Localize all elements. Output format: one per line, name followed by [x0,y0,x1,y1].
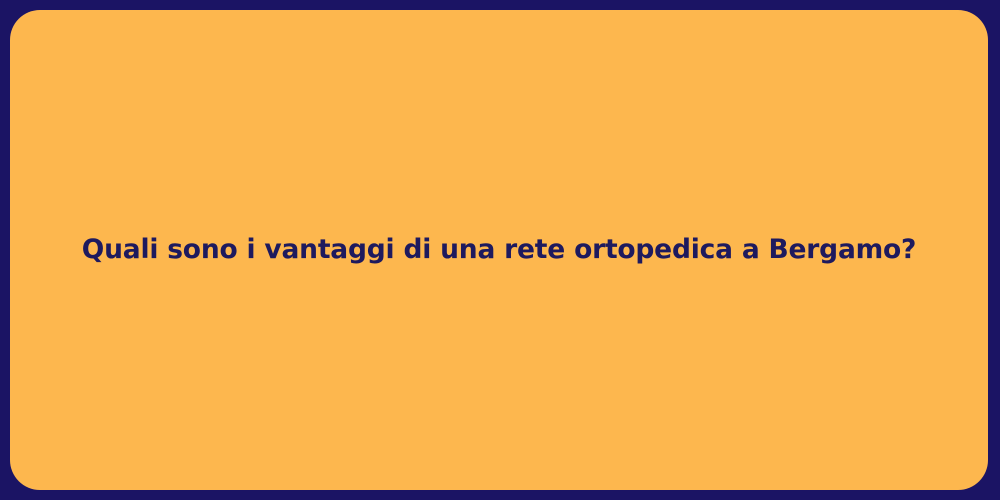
headline-question: Quali sono i vantaggi di una rete ortope… [58,233,940,266]
card-panel: Quali sono i vantaggi di una rete ortope… [10,10,988,490]
card-outer-frame: Quali sono i vantaggi di una rete ortope… [0,0,1000,500]
